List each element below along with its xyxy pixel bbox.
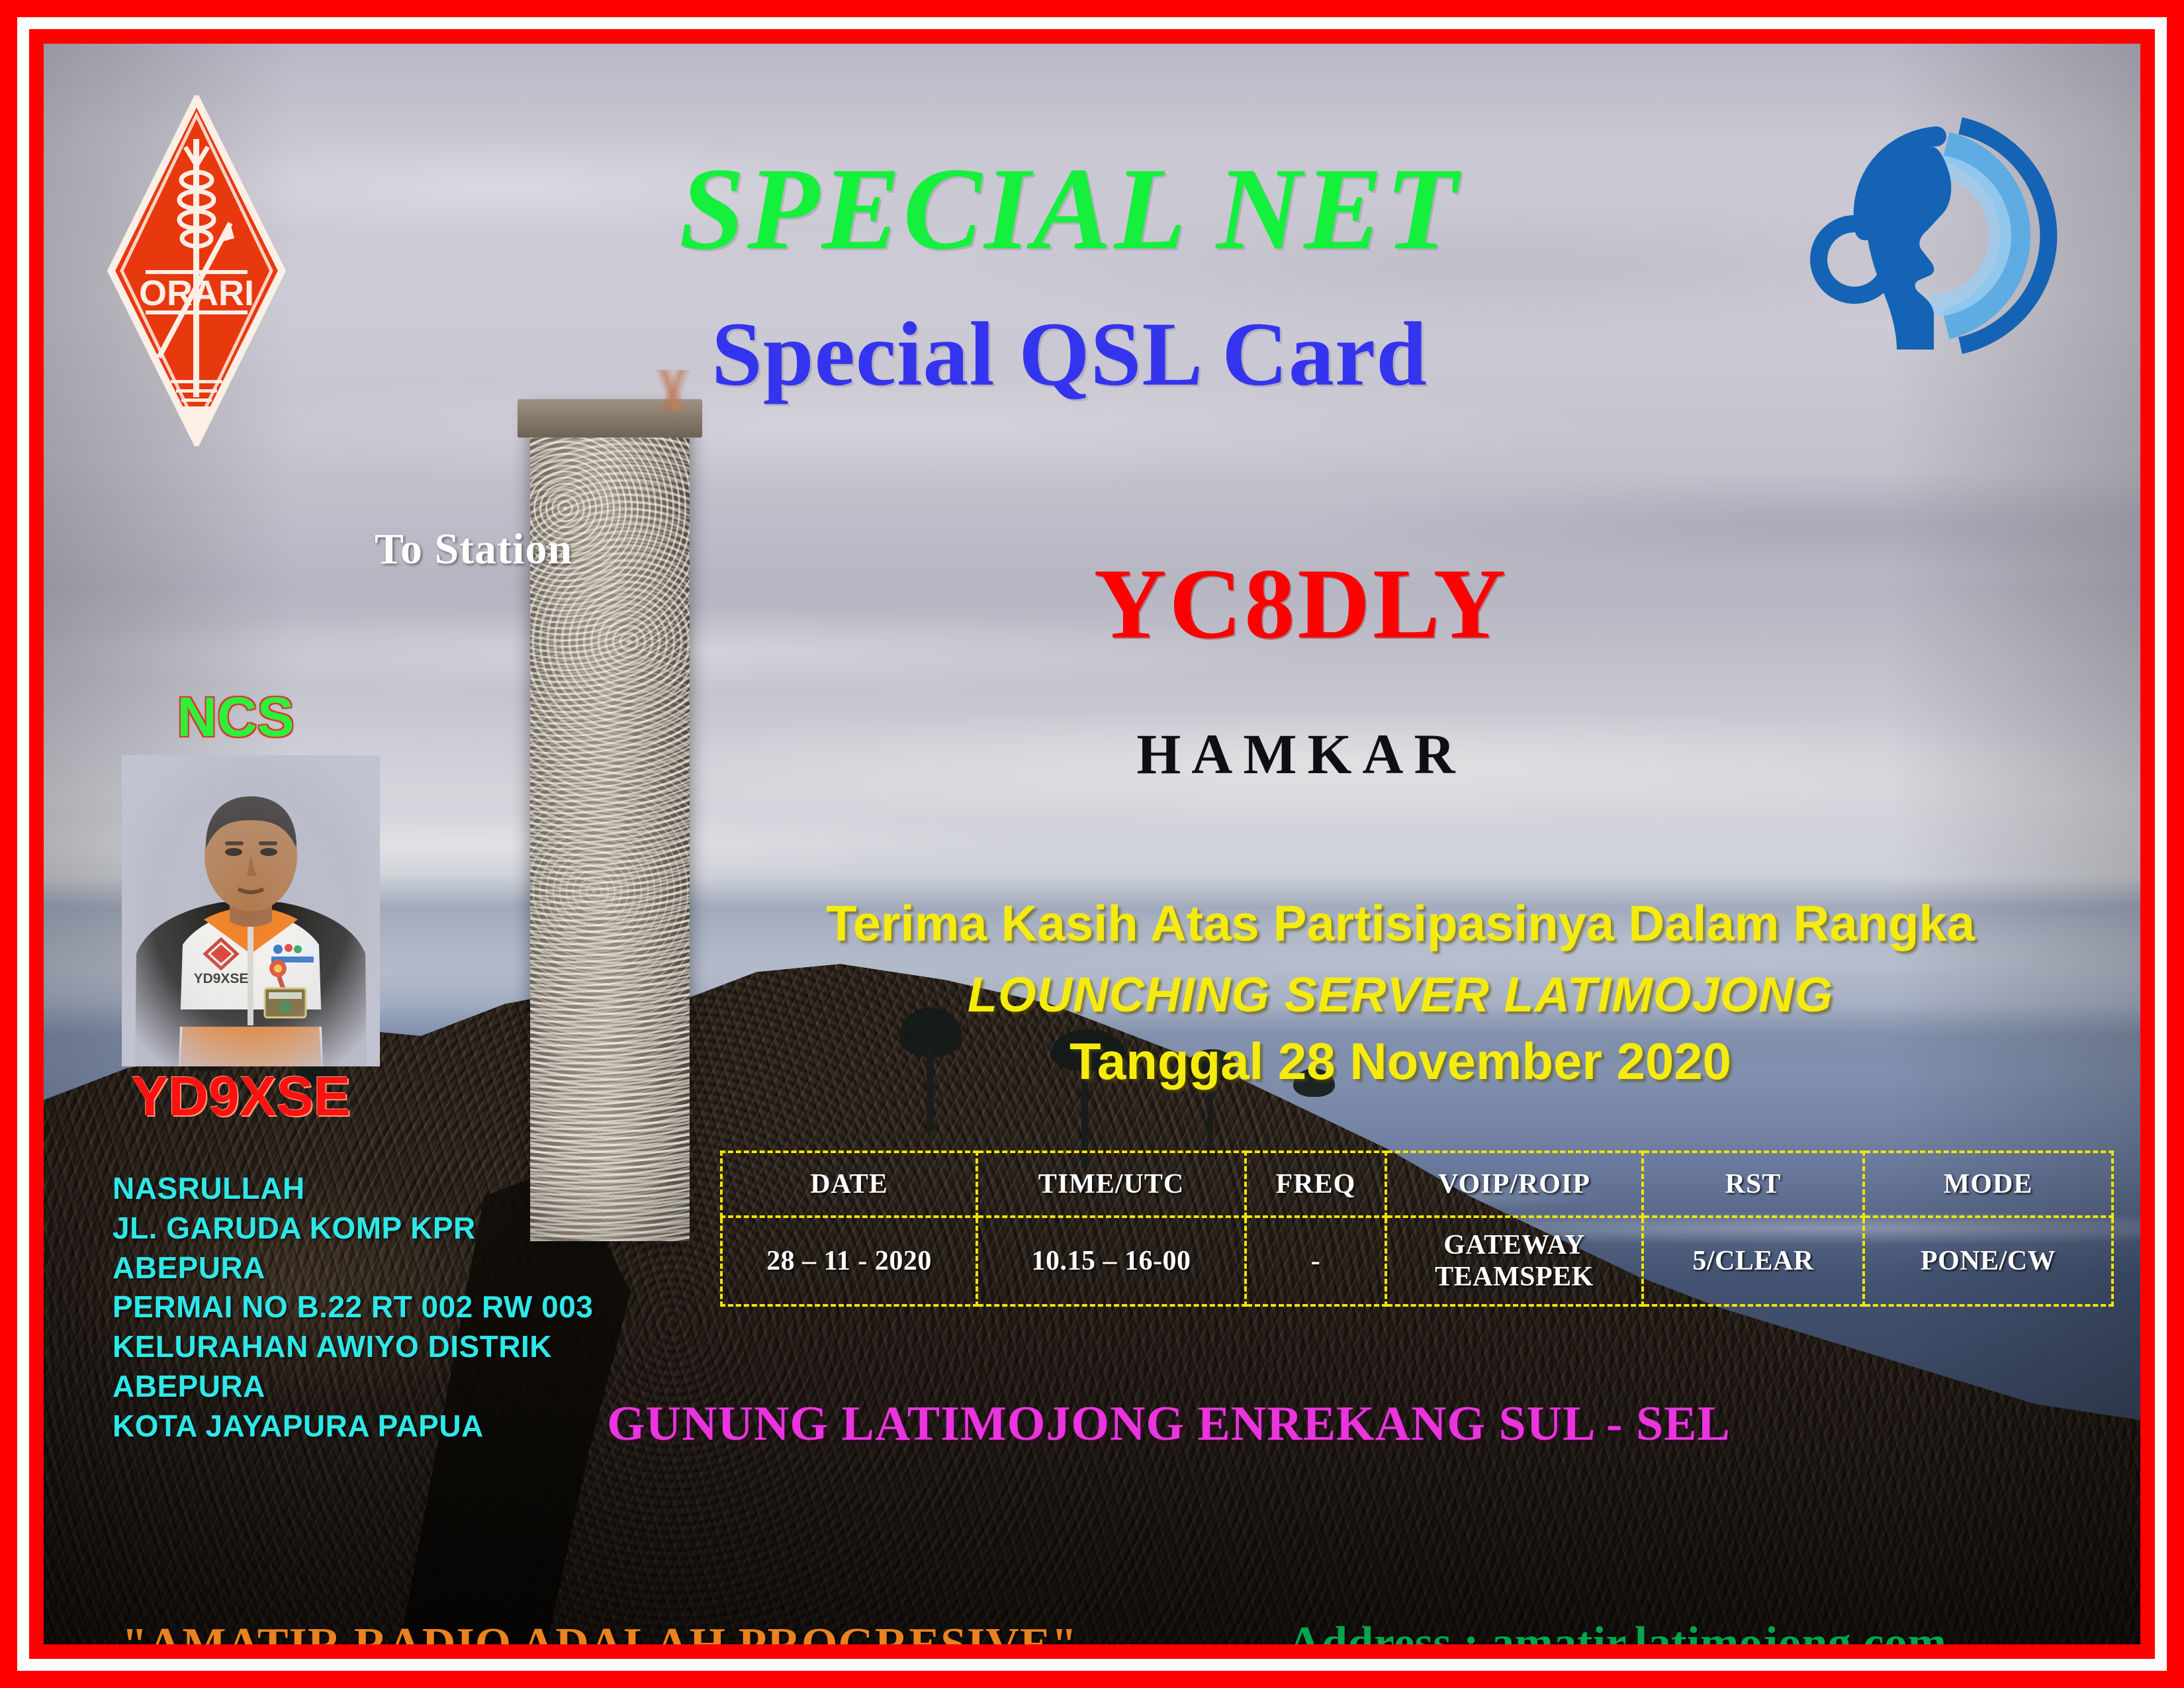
orari-logo: ORARI xyxy=(107,95,286,446)
station-callsign: YC8DLY xyxy=(904,553,1698,654)
footer-web-address: Address : amatir.latimojong.com xyxy=(1288,1620,1946,1644)
address-line: NASRULLAH xyxy=(113,1169,668,1209)
qso-log-table: DATE TIME/UTC FREQ VOIP/ROIP RST MODE 28… xyxy=(720,1150,2114,1307)
address-line: ABEPURA xyxy=(113,1248,668,1288)
address-line: PERMAI NO B.22 RT 002 RW 003 xyxy=(113,1288,668,1327)
column-header-time-utc: TIME/UTC xyxy=(977,1152,1246,1217)
column-header-voip-roip: VOIP/ROIP xyxy=(1386,1152,1643,1217)
address-line: JL. GARUDA KOMP KPR xyxy=(113,1209,668,1248)
cell-rst: 5/CLEAR xyxy=(1643,1217,1864,1305)
table-row: 28 – 11 - 2020 10.15 – 16-00 - GATEWAY T… xyxy=(721,1217,2113,1305)
orari-logo-text: ORARI xyxy=(139,273,254,313)
location-caption: GUNUNG LATIMOJONG ENREKANG SUL - SEL xyxy=(507,1399,1831,1448)
column-header-rst: RST xyxy=(1643,1152,1864,1217)
column-header-mode: MODE xyxy=(1864,1152,2113,1217)
cell-freq: - xyxy=(1246,1217,1386,1305)
background-photograph: ORARI xyxy=(44,44,2140,1644)
cell-voip-roip-line2: TEAMSPEK xyxy=(1388,1261,1641,1293)
footer-slogan: "AMATIR RADIO ADALAH PROGRESIVE" xyxy=(122,1622,1077,1644)
cell-mode: PONE/CW xyxy=(1864,1217,2113,1305)
table-header-row: DATE TIME/UTC FREQ VOIP/ROIP RST MODE xyxy=(721,1152,2113,1217)
organization-name: HAMKAR xyxy=(904,726,1698,782)
cell-date: 28 – 11 - 2020 xyxy=(721,1217,977,1305)
ncs-callsign: YD9XSE xyxy=(102,1068,380,1124)
column-header-date: DATE xyxy=(721,1152,977,1217)
ncs-role-label: NCS xyxy=(130,689,341,745)
qsl-card: ORARI xyxy=(0,0,2184,1688)
hamkar-headphone-logo xyxy=(1804,117,2069,355)
page-title-special-net: SPECIAL NET xyxy=(441,150,1698,267)
event-title-line: LOUNCHING SERVER LATIMOJONG xyxy=(739,970,2062,1019)
event-date-line: Tanggal 28 November 2020 xyxy=(739,1035,2062,1087)
cell-time-utc: 10.15 – 16-00 xyxy=(977,1217,1246,1305)
address-line: KELURAHAN AWIYO DISTRIK xyxy=(113,1327,668,1367)
to-station-label: To Station xyxy=(375,524,572,575)
operator-portrait-photo: YD9XSE xyxy=(122,755,380,1066)
event-thanks-line: Terima Kasih Atas Partisipasinya Dalam R… xyxy=(739,899,2062,949)
subtitle-special-qsl-card: Special QSL Card xyxy=(441,308,1698,400)
cell-voip-roip-line1: GATEWAY xyxy=(1388,1229,1641,1261)
cell-voip-roip: GATEWAY TEAMSPEK xyxy=(1386,1217,1643,1305)
column-header-freq: FREQ xyxy=(1246,1152,1386,1217)
